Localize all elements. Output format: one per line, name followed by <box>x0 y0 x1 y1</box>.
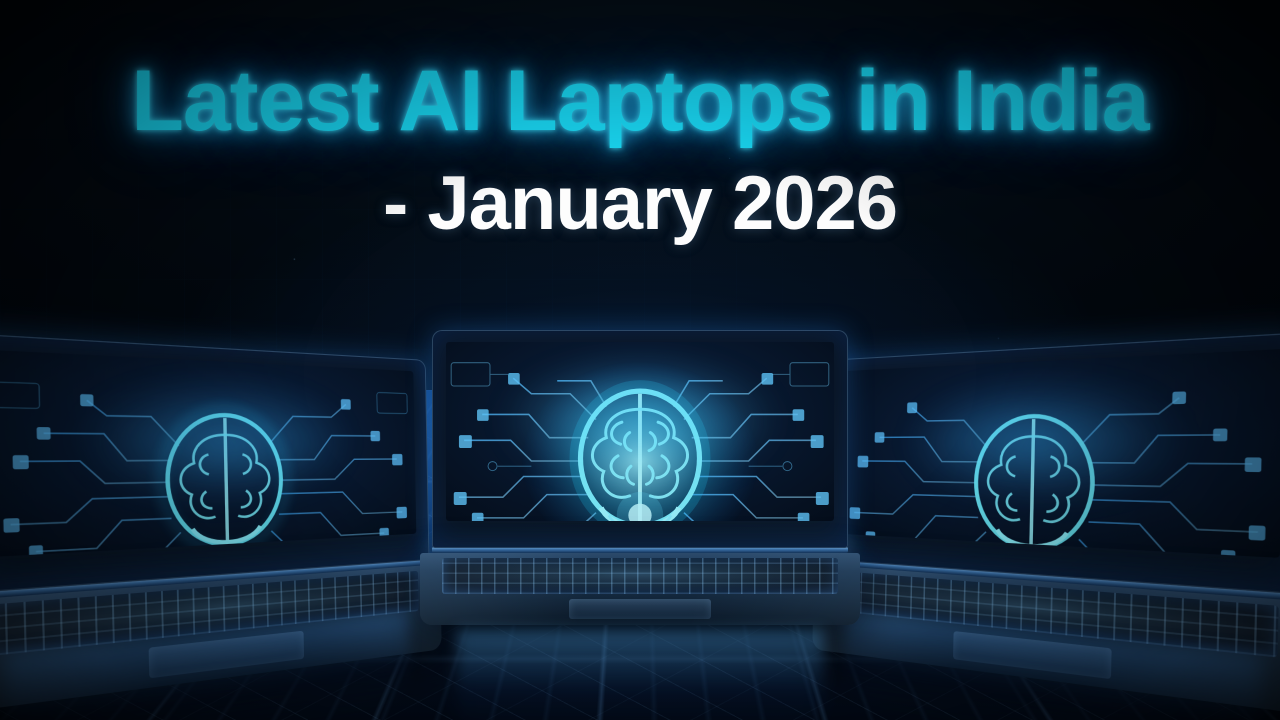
brain-icon <box>160 408 288 554</box>
laptop-center-base <box>420 553 861 625</box>
laptop-center-screen <box>446 342 834 521</box>
laptop-right <box>824 332 1280 660</box>
circuit-trace-icon <box>446 342 834 521</box>
laptop-left-lid <box>0 333 429 594</box>
laptop-center-lid <box>432 330 848 548</box>
banner-image: Latest AI Laptops in India - January 202… <box>0 0 1280 720</box>
laptop-left-screen <box>0 349 416 557</box>
circuit-trace-icon <box>0 349 416 557</box>
page-subtitle: - January 2026 <box>0 166 1280 242</box>
laptop-center <box>432 330 848 630</box>
circuit-trace-icon <box>838 349 1280 558</box>
brain-icon <box>975 415 1094 552</box>
laptop-right-screen <box>838 349 1280 558</box>
banner-text-block: Latest AI Laptops in India - January 202… <box>0 0 1280 242</box>
page-title: Latest AI Laptops in India <box>0 58 1280 144</box>
laptop-right-lid <box>825 332 1280 594</box>
laptop-left <box>0 333 430 659</box>
laptop-center-palmrest-sheen <box>420 553 861 625</box>
